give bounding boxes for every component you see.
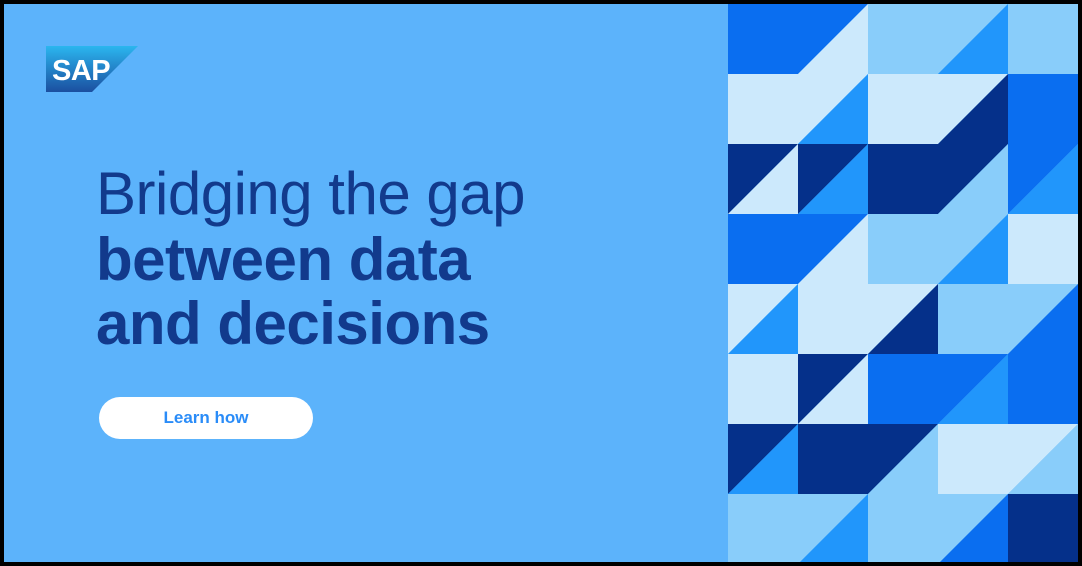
learn-how-button[interactable]: Learn how: [99, 397, 313, 439]
sap-logo[interactable]: SAP: [46, 46, 138, 92]
sap-promo-banner: SAP Bridging the gap between data and de…: [4, 4, 1078, 562]
geometric-tile-pattern: [728, 4, 1078, 562]
headline-line-3: and decisions: [96, 294, 696, 354]
headline-line-2: between data: [96, 230, 696, 290]
headline: Bridging the gap between data and decisi…: [96, 164, 696, 358]
headline-line-1: Bridging the gap: [96, 164, 696, 224]
svg-text:SAP: SAP: [52, 55, 110, 87]
